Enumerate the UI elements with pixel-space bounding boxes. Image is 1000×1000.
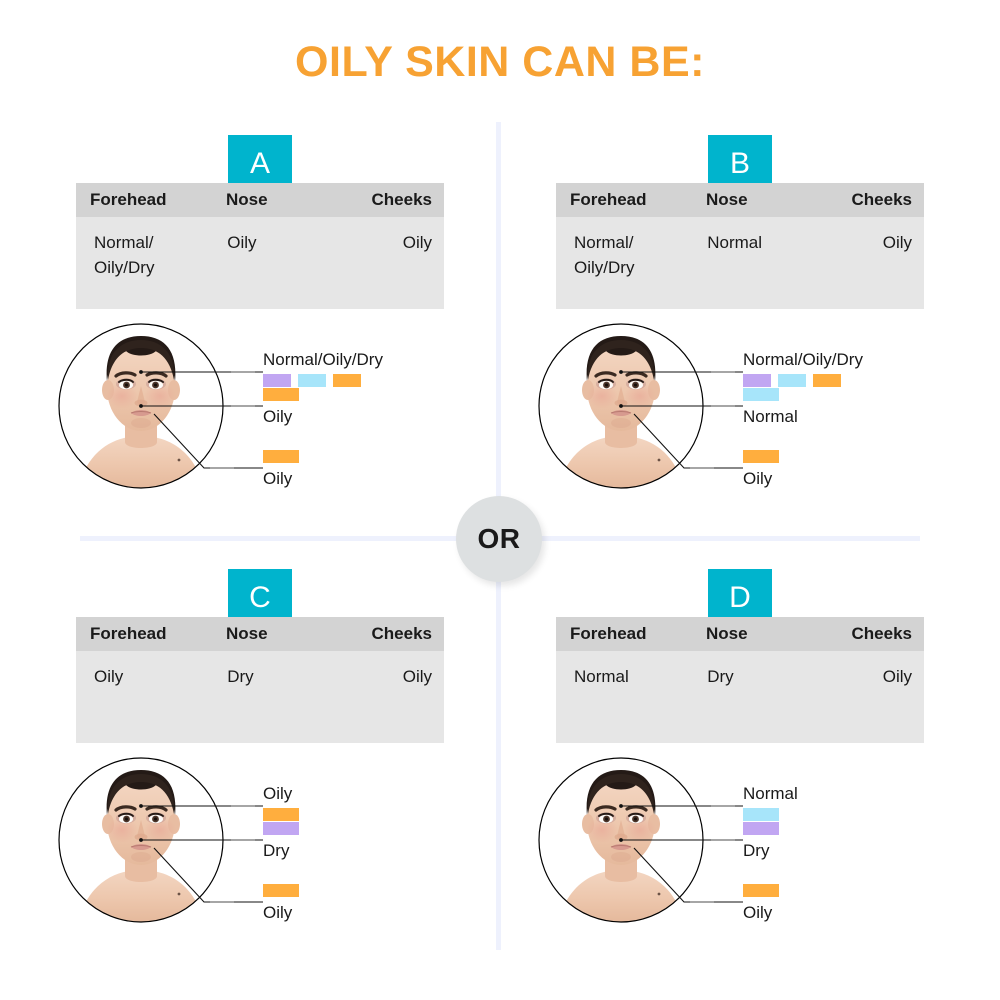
quadrant-c: CForeheadNoseCheeksOilyDryOily (48, 564, 498, 964)
table-cell-nose: Dry (225, 665, 336, 743)
legend-group-cheek: Oily (263, 884, 299, 923)
table-header-row: ForeheadNoseCheeks (76, 617, 444, 651)
table-column-header-nose: Nose (226, 190, 336, 210)
quadrant-letter-label: A (250, 147, 270, 181)
legend-group-nose: Normal (743, 388, 798, 427)
skin-table: ForeheadNoseCheeksOilyDryOily (76, 617, 444, 743)
table-header-row: ForeheadNoseCheeks (76, 183, 444, 217)
legend-label-cheek: Oily (743, 469, 779, 489)
legend-group-forehead: Normal/Oily/Dry (743, 350, 863, 387)
legend-label-nose: Dry (263, 841, 299, 861)
table-header-row: ForeheadNoseCheeks (556, 183, 924, 217)
face-diagram: Normal/Oily/DryOilyOily (58, 310, 498, 510)
table-column-header-cheeks: Cheeks (816, 624, 924, 644)
table-cell-cheeks: Oily (337, 231, 444, 309)
table-column-header-forehead: Forehead (76, 190, 226, 210)
table-cell-nose: Dry (705, 665, 816, 743)
legend-swatch-row (263, 374, 383, 387)
quadrant-letter-label: C (249, 581, 271, 615)
legend-swatch-normal (298, 374, 326, 387)
legend-swatch-row (743, 388, 798, 401)
table-column-header-forehead: Forehead (76, 624, 226, 644)
skin-table: ForeheadNoseCheeksNormalDryOily (556, 617, 924, 743)
table-cell-nose: Normal (705, 231, 816, 309)
table-column-header-nose: Nose (226, 624, 336, 644)
table-cell-cheeks: Oily (817, 231, 924, 309)
table-row: NormalDryOily (556, 651, 924, 743)
legend-label-cheek: Oily (263, 469, 299, 489)
skin-table: ForeheadNoseCheeksNormal/ Oily/DryOilyOi… (76, 183, 444, 309)
table-cell-forehead: Normal/ Oily/Dry (556, 231, 705, 309)
legend-swatch-dry (743, 822, 779, 835)
legend-label-nose: Normal (743, 407, 798, 427)
table-column-header-forehead: Forehead (556, 624, 706, 644)
legend-swatch-dry (263, 374, 291, 387)
table-row: Normal/ Oily/DryOilyOily (76, 217, 444, 309)
legend-label-forehead: Normal/Oily/Dry (263, 350, 383, 370)
table-cell-cheeks: Oily (337, 665, 444, 743)
legend-group-cheek: Oily (743, 884, 779, 923)
legend-swatch-row (263, 822, 299, 835)
legend-swatch-normal (778, 374, 806, 387)
legend-label-forehead: Normal (743, 784, 798, 804)
quadrant-a: AForeheadNoseCheeksNormal/ Oily/DryOilyO… (48, 130, 498, 530)
legend-swatch-dry (743, 374, 771, 387)
legend-swatch-row (743, 374, 863, 387)
quadrant-letter-label: D (729, 581, 751, 615)
legend-group-cheek: Oily (263, 450, 299, 489)
legend-group-nose: Oily (263, 388, 299, 427)
page-title: OILY SKIN CAN BE: (0, 38, 1000, 87)
legend-swatch-oily (333, 374, 361, 387)
table-cell-nose: Oily (225, 231, 336, 309)
legend-swatch-row (263, 450, 299, 463)
legend-swatch-normal (743, 808, 779, 821)
table-cell-forehead: Oily (76, 665, 225, 743)
table-column-header-cheeks: Cheeks (336, 624, 444, 644)
quadrant-b: BForeheadNoseCheeksNormal/ Oily/DryNorma… (528, 130, 978, 530)
legend-swatch-oily (743, 884, 779, 897)
legend-label-cheek: Oily (263, 903, 299, 923)
legend-swatch-row (743, 450, 779, 463)
legend-group-forehead: Normal/Oily/Dry (263, 350, 383, 387)
legend-swatch-oily (813, 374, 841, 387)
legend-label-forehead: Oily (263, 784, 299, 804)
legend-swatch-row (743, 808, 798, 821)
legend-group-forehead: Normal (743, 784, 798, 821)
legend-swatch-oily (263, 884, 299, 897)
legend-swatch-row (263, 884, 299, 897)
table-cell-forehead: Normal (556, 665, 705, 743)
legend-group-nose: Dry (263, 822, 299, 861)
legend-group-nose: Dry (743, 822, 779, 861)
legend-label-cheek: Oily (743, 903, 779, 923)
legend-swatch-oily (263, 450, 299, 463)
table-column-header-cheeks: Cheeks (336, 190, 444, 210)
legend-swatch-dry (263, 822, 299, 835)
skin-table: ForeheadNoseCheeksNormal/ Oily/DryNormal… (556, 183, 924, 309)
table-column-header-nose: Nose (706, 624, 816, 644)
legend-swatch-row (263, 808, 299, 821)
legend-label-nose: Dry (743, 841, 779, 861)
legend-swatch-oily (263, 808, 299, 821)
legend-swatch-row (263, 388, 299, 401)
legend-swatch-oily (743, 450, 779, 463)
legend-swatch-row (743, 884, 779, 897)
face-diagram: OilyDryOily (58, 744, 498, 944)
legend-label-forehead: Normal/Oily/Dry (743, 350, 863, 370)
table-row: Normal/ Oily/DryNormalOily (556, 217, 924, 309)
table-column-header-cheeks: Cheeks (816, 190, 924, 210)
legend-swatch-oily (263, 388, 299, 401)
face-diagram: NormalDryOily (538, 744, 978, 944)
table-cell-forehead: Normal/ Oily/Dry (76, 231, 225, 309)
table-column-header-forehead: Forehead (556, 190, 706, 210)
table-column-header-nose: Nose (706, 190, 816, 210)
table-cell-cheeks: Oily (817, 665, 924, 743)
legend-group-forehead: Oily (263, 784, 299, 821)
quadrant-letter-label: B (730, 147, 750, 181)
legend-swatch-row (743, 822, 779, 835)
legend-label-nose: Oily (263, 407, 299, 427)
face-diagram: Normal/Oily/DryNormalOily (538, 310, 978, 510)
legend-group-cheek: Oily (743, 450, 779, 489)
legend-swatch-normal (743, 388, 779, 401)
quadrant-d: DForeheadNoseCheeksNormalDryOily (528, 564, 978, 964)
table-row: OilyDryOily (76, 651, 444, 743)
table-header-row: ForeheadNoseCheeks (556, 617, 924, 651)
